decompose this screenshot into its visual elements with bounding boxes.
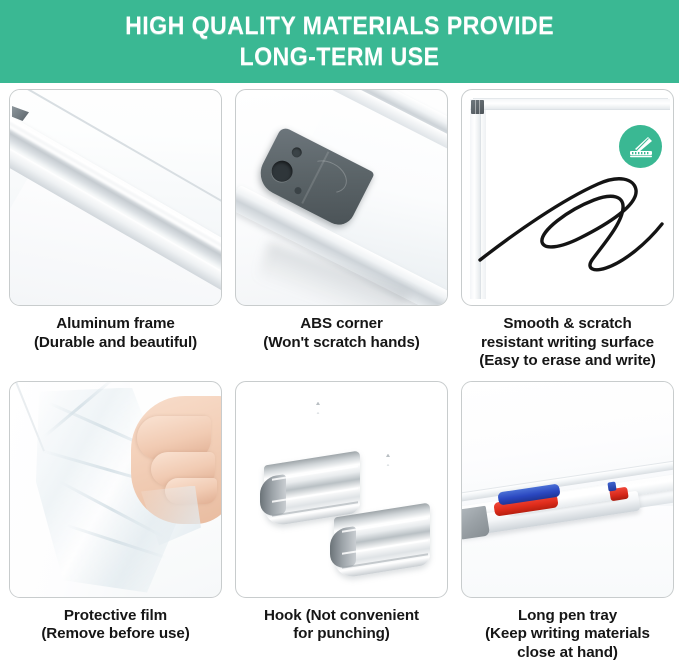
corner-mount-hole-small-2	[293, 186, 302, 195]
corner-arc-detail	[301, 154, 352, 200]
eraser-icon	[626, 132, 656, 162]
corner-mount-hole-small-1	[290, 146, 303, 159]
marker-blue-cap	[607, 481, 616, 491]
corner-clip-bracket	[471, 100, 484, 114]
header-banner: HIGH QUALITY MATERIALS PROVIDE LONG-TERM…	[0, 0, 679, 83]
feature-image-protective-film	[9, 381, 222, 598]
corner-mount-hole-large	[268, 157, 296, 185]
feature-image-abs-corner	[235, 89, 448, 306]
banner-title-line-2: LONG-TERM USE	[240, 42, 440, 72]
feature-image-pen-tray	[461, 381, 674, 598]
pen-tray-end-cap	[461, 505, 490, 540]
feature-caption-pen-tray: Long pen tray (Keep writing materials cl…	[461, 607, 674, 663]
feature-caption-writing-surface: Smooth & scratch resistant writing surfa…	[461, 315, 674, 371]
feature-grid: Aluminum frame (Durable and beautiful) A…	[0, 83, 679, 662]
feature-caption-abs-corner: ABS corner (Won't scratch hands)	[235, 315, 448, 352]
feature-cell-pen-tray: Long pen tray (Keep writing materials cl…	[461, 381, 674, 663]
feature-caption-aluminum-frame: Aluminum frame (Durable and beautiful)	[9, 315, 222, 352]
feature-image-writing-surface	[461, 89, 674, 306]
banner-title-line-1: HIGH QUALITY MATERIALS PROVIDE	[125, 11, 554, 41]
eraser-badge	[619, 125, 662, 168]
feature-caption-protective-film: Protective film (Remove before use)	[9, 607, 222, 644]
feature-image-aluminum-frame	[9, 89, 222, 306]
feature-image-hook	[235, 381, 448, 598]
feature-cell-protective-film: Protective film (Remove before use)	[9, 381, 222, 663]
feature-cell-abs-corner: ABS corner (Won't scratch hands)	[235, 89, 448, 371]
feature-cell-aluminum-frame: Aluminum frame (Durable and beautiful)	[9, 89, 222, 371]
feature-cell-writing-surface: Smooth & scratch resistant writing surfa…	[461, 89, 674, 371]
feature-caption-hook: Hook (Not convenient for punching)	[235, 607, 448, 644]
feature-cell-hook: Hook (Not convenient for punching)	[235, 381, 448, 663]
top-frame-rail	[470, 99, 670, 110]
